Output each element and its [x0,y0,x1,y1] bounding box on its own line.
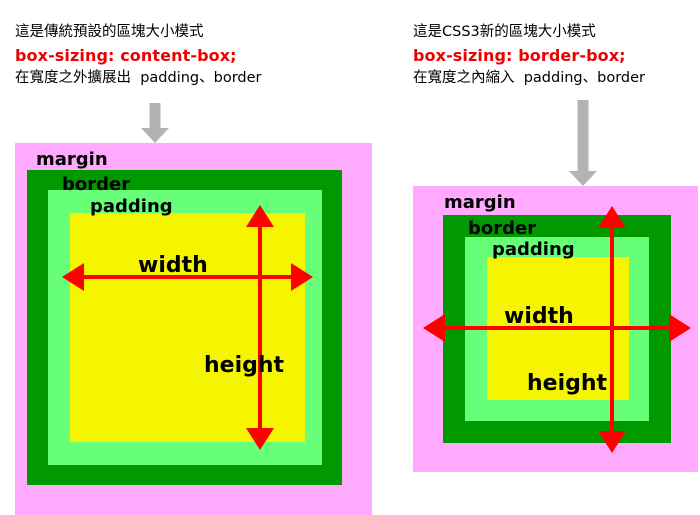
arrow-shaft [150,103,161,129]
down-arrow-icon-right [568,100,598,186]
measure-line [258,217,262,438]
left-height-label: height [204,355,284,377]
right-height-label: height [527,373,607,395]
right-border-label: border [468,220,536,238]
caption-line-3-suffix: padding、border [524,70,645,86]
left-height-measure-arrow [246,205,274,450]
right-width-label: width [504,306,574,328]
caption-line-3: 在寬度之外擴展出 padding、border [15,68,262,90]
arrow-head-left [62,263,84,291]
arrow-head-up [598,206,626,228]
caption-line-3-prefix: 在寬度之外擴展出 [15,70,131,86]
right-padding-label: padding [492,241,575,259]
arrow-head-up [246,205,274,227]
arrow-head-down [246,428,274,450]
arrow-head [141,128,169,143]
caption-code-declaration: box-sizing: content-box; [15,44,262,68]
left-padding-label: padding [90,198,173,216]
caption-line-1: 這是CSS3新的區塊大小模式 [413,22,645,44]
caption-line-3: 在寬度之內縮入 padding、border [413,68,645,90]
caption-content-box: 這是傳統預設的區塊大小模式 box-sizing: content-box; 在… [15,22,262,90]
caption-line-1: 這是傳統預設的區塊大小模式 [15,22,262,44]
arrow-shaft [578,100,589,172]
caption-code-declaration: box-sizing: border-box; [413,44,645,68]
left-width-label: width [138,255,208,277]
left-border-label: border [62,176,130,194]
arrow-head-right [291,263,313,291]
caption-line-3-prefix: 在寬度之內縮入 [413,70,515,86]
arrow-head [569,171,597,186]
arrow-head-right [669,314,691,342]
caption-line-3-suffix: padding、border [140,70,261,86]
caption-border-box: 這是CSS3新的區塊大小模式 box-sizing: border-box; 在… [413,22,645,90]
box-sizing-diagram-page: { "page": { "title": "CSS box-sizing com… [0,0,700,514]
right-margin-label: margin [444,194,516,212]
measure-line [610,218,614,441]
right-height-measure-arrow [598,206,626,453]
left-margin-label: margin [36,151,108,169]
down-arrow-icon-left [140,103,170,143]
arrow-head-down [598,431,626,453]
arrow-head-left [423,314,445,342]
